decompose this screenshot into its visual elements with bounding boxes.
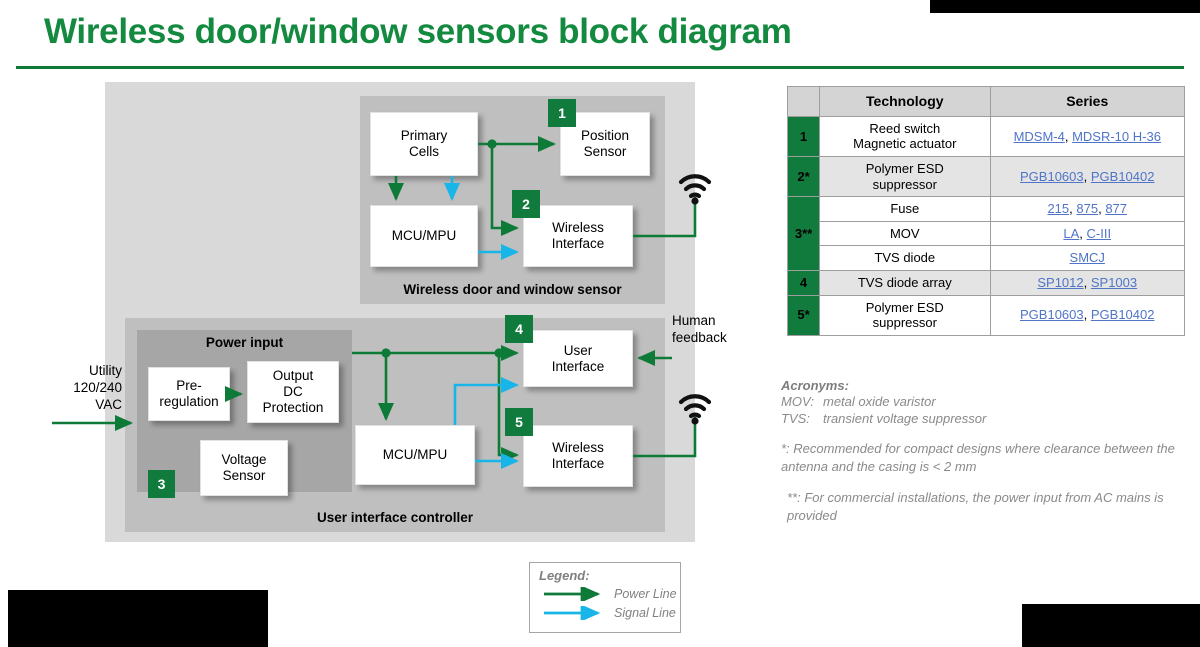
badge-1-position-sensor[interactable]: 1: [548, 99, 576, 127]
table-cell-series: SP1012, SP1003: [990, 270, 1185, 295]
table-cell-technology: TVS diode array: [820, 270, 990, 295]
table-body: 1Reed switchMagnetic actuatorMDSM-4, MDS…: [788, 116, 1185, 335]
series-link[interactable]: PGB10402: [1091, 169, 1155, 184]
technology-series-table: Technology Series 1Reed switchMagnetic a…: [787, 86, 1185, 336]
acronym-key-mov: MOV:: [781, 393, 823, 410]
block-wireless-interface-lower[interactable]: WirelessInterface: [523, 425, 633, 487]
series-link[interactable]: SP1012: [1037, 275, 1083, 290]
block-user-interface-label: UserInterface: [552, 343, 605, 375]
table-cell-series: LA, C-III: [990, 221, 1185, 246]
block-voltage-sensor-label: VoltageSensor: [221, 452, 266, 484]
table-row: TVS diodeSMCJ: [788, 246, 1185, 271]
block-position-sensor-label: PositionSensor: [581, 128, 629, 160]
series-link[interactable]: SMCJ: [1070, 250, 1105, 265]
table-cell-series: SMCJ: [990, 246, 1185, 271]
series-link[interactable]: PGB10603: [1020, 169, 1084, 184]
block-wireless-interface-lower-label: WirelessInterface: [552, 440, 605, 472]
series-link[interactable]: PGB10402: [1091, 307, 1155, 322]
footnote-single-star: *: Recommended for compact designs where…: [781, 440, 1181, 475]
block-voltage-sensor[interactable]: VoltageSensor: [200, 440, 288, 496]
table-cell-technology: Polymer ESDsuppressor: [820, 156, 990, 196]
block-mcu-lower[interactable]: MCU/MPU: [355, 425, 475, 485]
legend-power-line-label: Power Line: [614, 587, 677, 601]
block-wireless-interface-upper-label: WirelessInterface: [552, 220, 605, 252]
table-cell-technology: Polymer ESDsuppressor: [820, 295, 990, 335]
legend-signal-line-label: Signal Line: [614, 606, 676, 620]
block-preregulation[interactable]: Pre-regulation: [148, 367, 230, 421]
series-link[interactable]: MDSM-4: [1014, 129, 1065, 144]
table-badge-1[interactable]: 1: [788, 116, 820, 156]
legend-power-line-swatch: [542, 587, 612, 601]
table-cell-technology: TVS diode: [820, 246, 990, 271]
badge-2-wireless-interface-upper[interactable]: 2: [512, 190, 540, 218]
acronym-value-tvs: transient voltage suppressor: [823, 411, 986, 426]
block-output-dc-protection-label: OutputDCProtection: [263, 368, 324, 416]
legend: Legend: Power Line Signal Line: [529, 562, 681, 633]
badge-4-user-interface[interactable]: 4: [505, 315, 533, 343]
badge-3-power-input[interactable]: 3: [148, 470, 175, 498]
acronym-key-tvs: TVS:: [781, 410, 823, 427]
table-cell-series: 215, 875, 877: [990, 197, 1185, 222]
notes-block: Acronyms: MOV:metal oxide varistor TVS:t…: [781, 378, 1181, 525]
table-row: 3**Fuse215, 875, 877: [788, 197, 1185, 222]
table-cell-technology: Fuse: [820, 197, 990, 222]
acronym-row-mov: MOV:metal oxide varistor: [781, 393, 1181, 410]
table-row: 4TVS diode arraySP1012, SP1003: [788, 270, 1185, 295]
series-link[interactable]: PGB10603: [1020, 307, 1084, 322]
redaction-bar-bottom-left: [8, 590, 268, 647]
table-row: 2*Polymer ESDsuppressorPGB10603, PGB1040…: [788, 156, 1185, 196]
table-header-row: Technology Series: [788, 87, 1185, 117]
block-output-dc-protection[interactable]: OutputDCProtection: [247, 361, 339, 423]
table-badge-4[interactable]: 4: [788, 270, 820, 295]
table-header-badge: [788, 87, 820, 117]
table-row: MOVLA, C-III: [788, 221, 1185, 246]
table-badge-2star[interactable]: 2*: [788, 156, 820, 196]
block-mcu-upper[interactable]: MCU/MPU: [370, 205, 478, 267]
legend-title: Legend:: [539, 568, 590, 583]
table-cell-series: PGB10603, PGB10402: [990, 156, 1185, 196]
series-link[interactable]: 877: [1105, 201, 1127, 216]
title-underline-rule: [16, 66, 1184, 69]
table-badge-3starstar[interactable]: 3**: [788, 197, 820, 271]
user-interface-controller-group-label: User interface controller: [125, 510, 665, 525]
block-mcu-lower-label: MCU/MPU: [383, 447, 448, 463]
table-cell-technology: Reed switchMagnetic actuator: [820, 116, 990, 156]
table-badge-5star[interactable]: 5*: [788, 295, 820, 335]
redaction-bar-bottom-right: [1022, 604, 1200, 647]
human-feedback-label: Humanfeedback: [672, 313, 758, 347]
table-header-series: Series: [990, 87, 1185, 117]
footnote-double-star: **: For commercial installations, the po…: [781, 489, 1181, 524]
block-primary-cells-label: PrimaryCells: [401, 128, 448, 160]
block-user-interface[interactable]: UserInterface: [523, 330, 633, 387]
acronym-value-mov: metal oxide varistor: [823, 394, 936, 409]
legend-signal-line-swatch: [542, 606, 612, 620]
block-mcu-upper-label: MCU/MPU: [392, 228, 457, 244]
table-row: 1Reed switchMagnetic actuatorMDSM-4, MDS…: [788, 116, 1185, 156]
acronyms-title: Acronyms:: [781, 378, 1181, 393]
series-link[interactable]: 215: [1047, 201, 1069, 216]
table-cell-series: MDSM-4, MDSR-10 H-36: [990, 116, 1185, 156]
series-link[interactable]: C-III: [1087, 226, 1112, 241]
power-input-label: Power input: [137, 335, 352, 350]
block-primary-cells[interactable]: PrimaryCells: [370, 112, 478, 176]
table-cell-series: PGB10603, PGB10402: [990, 295, 1185, 335]
table-cell-technology: MOV: [820, 221, 990, 246]
utility-input-label: Utility120/240VAC: [36, 363, 122, 414]
series-link[interactable]: SP1003: [1091, 275, 1137, 290]
page-title: Wireless door/window sensors block diagr…: [44, 12, 792, 52]
table-header-technology: Technology: [820, 87, 990, 117]
series-link[interactable]: 875: [1076, 201, 1098, 216]
acronym-row-tvs: TVS:transient voltage suppressor: [781, 410, 1181, 427]
badge-5-wireless-interface-lower[interactable]: 5: [505, 408, 533, 436]
series-link[interactable]: LA: [1063, 226, 1079, 241]
redaction-bar-top-right: [930, 0, 1200, 13]
series-link[interactable]: MDSR-10 H-36: [1072, 129, 1161, 144]
block-preregulation-label: Pre-regulation: [159, 378, 218, 410]
table-row: 5*Polymer ESDsuppressorPGB10603, PGB1040…: [788, 295, 1185, 335]
wireless-sensor-group-label: Wireless door and window sensor: [360, 282, 665, 297]
